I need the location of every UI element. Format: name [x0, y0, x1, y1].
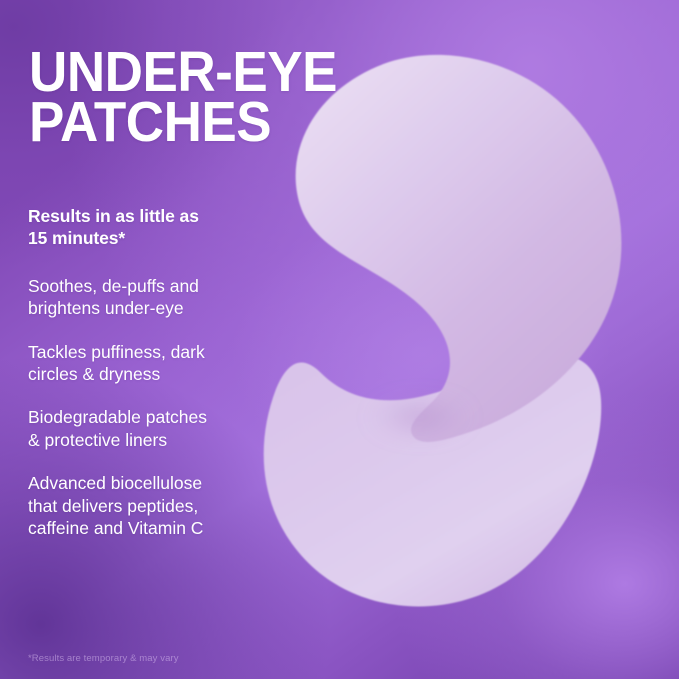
- benefit-item-lead: Results in as little as 15 minutes*: [28, 205, 288, 250]
- patch-lower: [264, 355, 602, 606]
- benefit-item: Biodegradable patches & protective liner…: [28, 406, 288, 451]
- benefit-item: Soothes, de-puffs and brightens under-ey…: [28, 275, 288, 320]
- product-feature-poster: Under-eye patches Results in as little a…: [0, 0, 679, 679]
- benefit-item: Advanced biocellulose that delivers pept…: [28, 472, 288, 539]
- benefit-list: Results in as little as 15 minutes* Soot…: [28, 205, 288, 539]
- benefit-item: Tackles puffiness, dark circles & drynes…: [28, 341, 288, 386]
- disclaimer-footnote: *Results are temporary & may vary: [28, 653, 179, 664]
- patch-contact-shadow: [368, 395, 472, 439]
- page-title: Under-eye patches: [29, 47, 337, 147]
